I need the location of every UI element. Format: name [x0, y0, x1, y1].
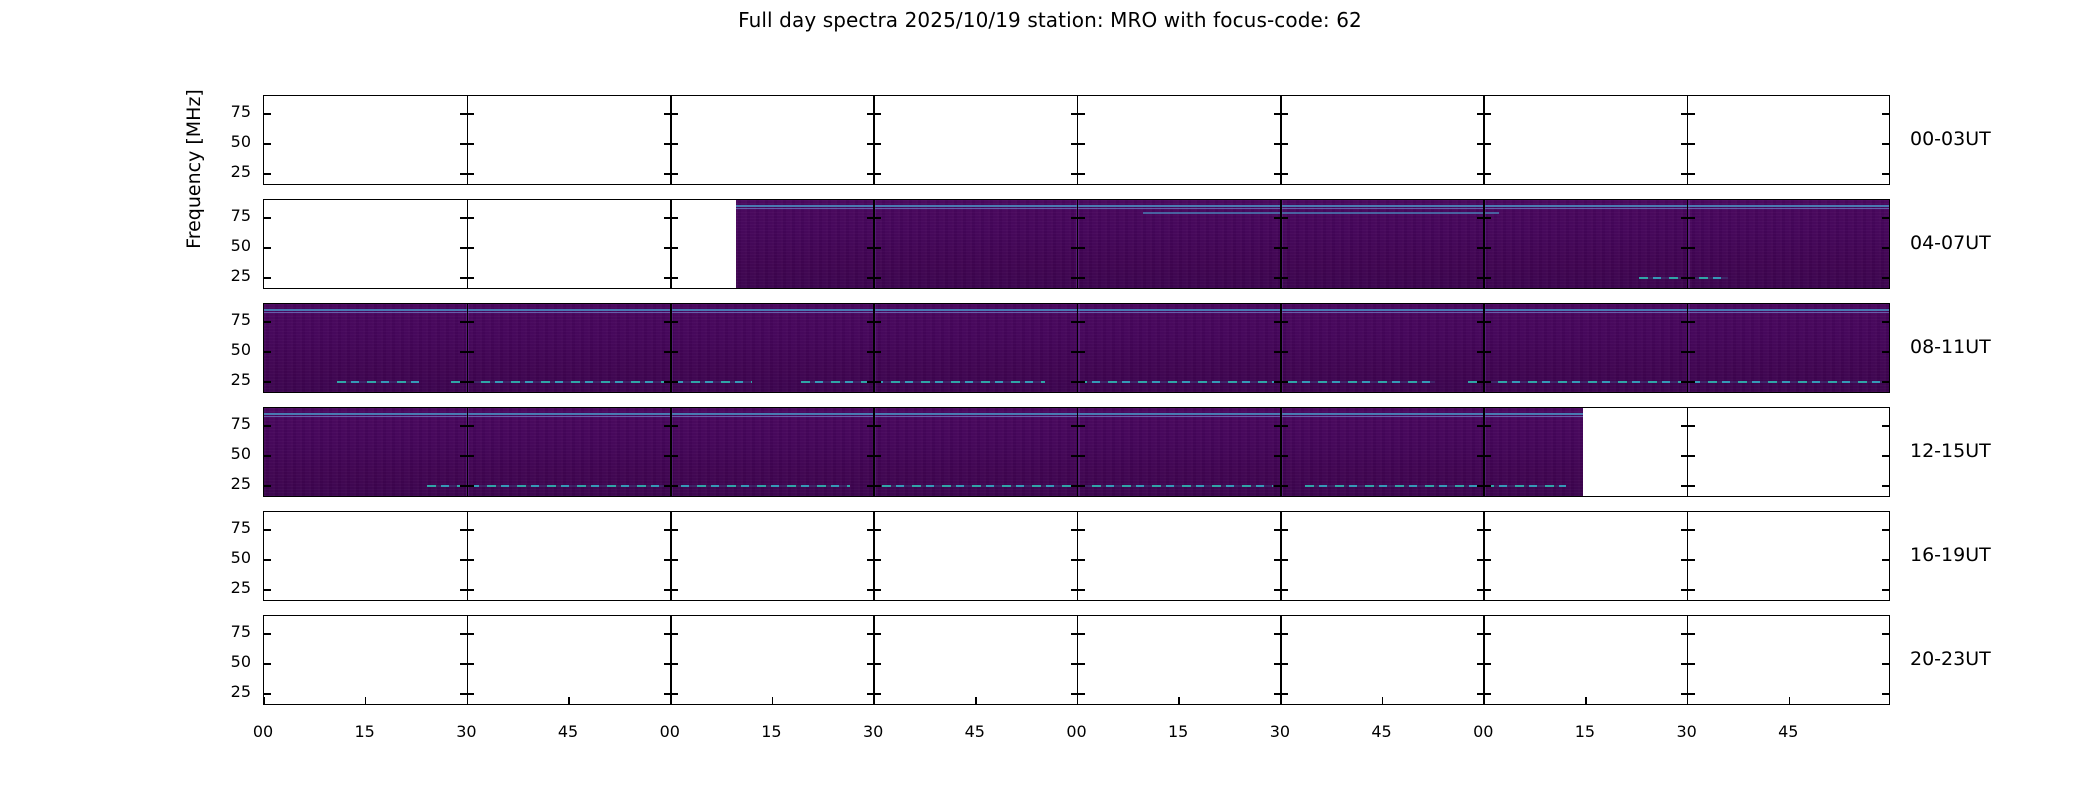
x-axis-tick-labels: 00153045001530450015304500153045 [0, 718, 2100, 748]
y-tick [671, 633, 678, 635]
y-tick [671, 425, 678, 427]
y-tick [671, 455, 678, 457]
y-tick [664, 113, 671, 115]
y-tick [467, 173, 474, 175]
spectrogram-row [263, 95, 1890, 185]
y-tick [1281, 425, 1288, 427]
y-tick [1281, 485, 1288, 487]
spectrogram-row [263, 615, 1890, 705]
y-tick [467, 217, 474, 219]
y-tick [664, 693, 671, 695]
row-plot-area[interactable] [263, 303, 1890, 393]
y-tick [1688, 381, 1695, 383]
y-tick [867, 113, 874, 115]
y-tick [1071, 425, 1078, 427]
y-tick [1681, 247, 1688, 249]
y-tick-label: 75 [201, 102, 251, 121]
y-tick [1274, 693, 1281, 695]
y-tick [671, 559, 678, 561]
y-tick [874, 633, 881, 635]
y-tick [1274, 485, 1281, 487]
y-tick [467, 485, 474, 487]
y-tick [1688, 217, 1695, 219]
y-tick [664, 589, 671, 591]
y-tick [1281, 589, 1288, 591]
y-tick [1274, 559, 1281, 561]
y-tick-label: 25 [201, 162, 251, 181]
y-tick [874, 589, 881, 591]
y-tick [1274, 351, 1281, 353]
y-tick [1281, 277, 1288, 279]
y-tick [460, 381, 467, 383]
hour-separator [873, 96, 875, 184]
y-tick [1071, 693, 1078, 695]
y-tick [867, 217, 874, 219]
y-tick [1071, 321, 1078, 323]
y-tick [1071, 277, 1078, 279]
y-tick [264, 425, 271, 427]
y-tick [1078, 113, 1085, 115]
row-plot-area[interactable] [263, 615, 1890, 705]
y-tick [1882, 425, 1889, 427]
y-tick [1078, 633, 1085, 635]
y-tick [1688, 173, 1695, 175]
x-tick-label: 30 [1250, 722, 1310, 741]
y-tick [1274, 589, 1281, 591]
y-tick [1078, 455, 1085, 457]
y-tick [1274, 455, 1281, 457]
x-tick-label: 30 [1657, 722, 1717, 741]
y-tick [671, 321, 678, 323]
y-tick [1071, 485, 1078, 487]
y-tick [1882, 143, 1889, 145]
y-tick [1681, 113, 1688, 115]
y-tick [671, 529, 678, 531]
y-tick [1484, 633, 1491, 635]
hour-separator [467, 512, 469, 600]
y-tick [1688, 485, 1695, 487]
y-tick [1078, 321, 1085, 323]
y-tick [460, 321, 467, 323]
y-tick [874, 321, 881, 323]
y-tick [1484, 381, 1491, 383]
secondary-frequency-band [1143, 212, 1499, 214]
x-tick [975, 697, 977, 704]
y-tick [1477, 693, 1484, 695]
y-tick-label: 50 [201, 132, 251, 151]
y-tick [1071, 455, 1078, 457]
hour-separator [1687, 304, 1689, 392]
y-tick [467, 425, 474, 427]
y-tick [460, 217, 467, 219]
y-tick [874, 351, 881, 353]
y-tick [467, 321, 474, 323]
y-tick [1078, 277, 1085, 279]
y-tick [1281, 321, 1288, 323]
y-tick [467, 529, 474, 531]
hour-separator [1077, 304, 1079, 392]
y-tick [1477, 589, 1484, 591]
hour-separator [467, 408, 469, 496]
y-tick-label: 50 [201, 340, 251, 359]
x-tick [1178, 697, 1180, 704]
x-tick-label: 15 [1148, 722, 1208, 741]
y-tick [1274, 277, 1281, 279]
hour-separator [1077, 408, 1079, 496]
y-tick [1477, 633, 1484, 635]
y-tick [264, 633, 271, 635]
hour-separator [1077, 512, 1079, 600]
x-tick-label: 45 [1758, 722, 1818, 741]
y-tick [1281, 173, 1288, 175]
y-tick [1688, 455, 1695, 457]
y-tick [867, 173, 874, 175]
y-tick [1071, 633, 1078, 635]
y-tick [1274, 143, 1281, 145]
y-tick [1688, 277, 1695, 279]
y-tick [671, 277, 678, 279]
y-tick [1477, 425, 1484, 427]
y-tick [1688, 693, 1695, 695]
row-plot-area[interactable] [263, 95, 1890, 185]
y-tick [1274, 381, 1281, 383]
y-tick [1681, 485, 1688, 487]
y-tick [460, 633, 467, 635]
y-tick-label: 50 [201, 444, 251, 463]
y-tick [1274, 529, 1281, 531]
rfi-streak [801, 381, 1045, 383]
y-tick [671, 589, 678, 591]
y-tick [264, 351, 271, 353]
y-tick [1681, 351, 1688, 353]
y-tick [1477, 455, 1484, 457]
x-tick [1687, 697, 1689, 704]
y-tick [1078, 693, 1085, 695]
y-tick-label: 75 [201, 206, 251, 225]
y-tick [1078, 173, 1085, 175]
y-tick [671, 143, 678, 145]
y-tick [664, 425, 671, 427]
y-tick [460, 113, 467, 115]
y-tick [1681, 455, 1688, 457]
hour-separator [1483, 616, 1485, 704]
row-label: 16-19UT [1910, 544, 1991, 566]
y-tick [1071, 529, 1078, 531]
y-tick [1484, 321, 1491, 323]
y-tick-label: 50 [201, 652, 251, 671]
y-tick [1882, 173, 1889, 175]
y-tick [264, 485, 271, 487]
hour-separator [670, 200, 672, 288]
spectrogram-data [264, 408, 1583, 496]
y-tick [1681, 425, 1688, 427]
hour-separator [1687, 512, 1689, 600]
spectrogram-row [263, 303, 1890, 393]
x-tick-label: 00 [233, 722, 293, 741]
y-tick [1477, 173, 1484, 175]
y-tick [1882, 113, 1889, 115]
y-tick [460, 589, 467, 591]
y-tick [664, 633, 671, 635]
y-tick [867, 247, 874, 249]
y-tick [664, 351, 671, 353]
y-tick [1681, 321, 1688, 323]
y-tick [1477, 351, 1484, 353]
y-tick [1681, 277, 1688, 279]
y-tick-label: 25 [201, 578, 251, 597]
y-tick [1484, 173, 1491, 175]
y-tick [874, 381, 881, 383]
rfi-streak [337, 381, 418, 383]
hour-separator [670, 616, 672, 704]
y-tick-label: 25 [201, 370, 251, 389]
y-tick [874, 247, 881, 249]
top-frequency-band [736, 205, 1889, 207]
y-tick [1688, 113, 1695, 115]
y-tick [264, 381, 271, 383]
y-tick [867, 693, 874, 695]
y-tick [1071, 589, 1078, 591]
hour-separator [873, 512, 875, 600]
row-label: 08-11UT [1910, 336, 1991, 358]
y-tick [1274, 321, 1281, 323]
y-tick [460, 247, 467, 249]
rfi-streak [1305, 485, 1565, 487]
hour-separator [467, 200, 469, 288]
y-tick [867, 633, 874, 635]
y-tick [867, 455, 874, 457]
y-tick [460, 455, 467, 457]
y-tick [1281, 247, 1288, 249]
y-tick [867, 559, 874, 561]
y-tick-label: 75 [201, 518, 251, 537]
y-tick [1681, 217, 1688, 219]
y-tick [1681, 633, 1688, 635]
y-tick [1484, 559, 1491, 561]
y-tick [1078, 247, 1085, 249]
y-tick-label: 75 [201, 414, 251, 433]
y-tick [1078, 143, 1085, 145]
y-tick [460, 173, 467, 175]
spectrogram-row [263, 407, 1890, 497]
y-tick [1688, 663, 1695, 665]
y-tick [867, 485, 874, 487]
y-tick [1484, 113, 1491, 115]
y-tick [1078, 485, 1085, 487]
y-tick [1688, 559, 1695, 561]
hour-separator [1483, 304, 1485, 392]
row-plot-area[interactable] [263, 407, 1890, 497]
y-tick [1281, 143, 1288, 145]
y-tick [264, 455, 271, 457]
y-tick [1078, 217, 1085, 219]
y-tick [1477, 277, 1484, 279]
y-tick [460, 485, 467, 487]
y-tick [867, 663, 874, 665]
y-tick [664, 321, 671, 323]
y-tick-label: 25 [201, 266, 251, 285]
y-tick [467, 589, 474, 591]
y-tick [1882, 277, 1889, 279]
y-tick [1484, 589, 1491, 591]
hour-separator [1077, 616, 1079, 704]
y-tick [664, 277, 671, 279]
x-tick [1789, 697, 1791, 704]
y-tick [867, 425, 874, 427]
x-tick [568, 697, 570, 704]
y-tick [1882, 455, 1889, 457]
y-tick [671, 381, 678, 383]
hour-separator [1077, 96, 1079, 184]
y-tick [1882, 693, 1889, 695]
x-tick [263, 697, 265, 704]
x-tick-label: 30 [436, 722, 496, 741]
y-tick [1882, 663, 1889, 665]
y-tick [467, 381, 474, 383]
hour-separator [1687, 96, 1689, 184]
y-tick [1071, 217, 1078, 219]
x-tick [365, 697, 367, 704]
y-tick [1281, 455, 1288, 457]
top-frequency-band [264, 413, 1583, 415]
hour-separator [1077, 200, 1079, 288]
y-tick [264, 663, 271, 665]
y-tick [1071, 559, 1078, 561]
spectrogram-row [263, 511, 1890, 601]
y-tick [460, 693, 467, 695]
y-tick [467, 633, 474, 635]
y-tick [1681, 693, 1688, 695]
hour-separator [873, 304, 875, 392]
y-tick [664, 381, 671, 383]
hour-separator [1280, 200, 1282, 288]
y-tick [1477, 247, 1484, 249]
y-tick [671, 173, 678, 175]
row-plot-area[interactable] [263, 511, 1890, 601]
y-tick [1477, 381, 1484, 383]
y-tick [1477, 559, 1484, 561]
y-tick [867, 277, 874, 279]
y-tick [1681, 173, 1688, 175]
y-tick [1071, 173, 1078, 175]
y-tick [1071, 113, 1078, 115]
y-tick [664, 143, 671, 145]
x-tick [467, 697, 469, 704]
y-tick [1688, 589, 1695, 591]
hour-separator [1280, 616, 1282, 704]
y-tick [467, 277, 474, 279]
y-tick [1484, 217, 1491, 219]
y-tick [264, 217, 271, 219]
y-tick [874, 455, 881, 457]
y-tick [671, 113, 678, 115]
rfi-streak [1078, 381, 1436, 383]
x-tick [1280, 697, 1282, 704]
y-tick [1484, 529, 1491, 531]
spectrogram-noise [264, 408, 1583, 496]
y-tick [874, 485, 881, 487]
y-tick [874, 173, 881, 175]
x-tick [873, 697, 875, 704]
y-tick [874, 559, 881, 561]
y-tick [671, 351, 678, 353]
y-tick [867, 321, 874, 323]
hour-separator [1280, 96, 1282, 184]
y-tick [1281, 529, 1288, 531]
y-tick [1078, 529, 1085, 531]
y-tick [664, 247, 671, 249]
x-tick [772, 697, 774, 704]
y-tick [1882, 559, 1889, 561]
y-tick [1484, 351, 1491, 353]
y-tick [1681, 663, 1688, 665]
y-tick [1484, 425, 1491, 427]
hour-separator [467, 616, 469, 704]
y-tick [1477, 485, 1484, 487]
y-tick [264, 529, 271, 531]
rfi-streak [451, 381, 752, 383]
y-tick [467, 113, 474, 115]
y-tick [1071, 143, 1078, 145]
row-plot-area[interactable] [263, 199, 1890, 289]
y-tick [1078, 559, 1085, 561]
y-tick [460, 425, 467, 427]
hour-separator [1687, 200, 1689, 288]
rfi-streak [1468, 381, 1889, 383]
y-tick [1071, 247, 1078, 249]
y-tick [664, 529, 671, 531]
y-tick [1688, 247, 1695, 249]
x-tick-label: 00 [1047, 722, 1107, 741]
y-tick [467, 663, 474, 665]
hour-separator [1687, 408, 1689, 496]
x-tick [1483, 697, 1485, 704]
y-tick-label: 75 [201, 622, 251, 641]
row-label: 20-23UT [1910, 648, 1991, 670]
y-tick [1484, 143, 1491, 145]
y-tick [1281, 663, 1288, 665]
y-tick [264, 247, 271, 249]
y-tick-label: 50 [201, 548, 251, 567]
y-tick-label: 25 [201, 474, 251, 493]
y-tick [1681, 589, 1688, 591]
y-tick [1281, 559, 1288, 561]
x-tick [1585, 697, 1587, 704]
y-tick [467, 455, 474, 457]
y-tick [664, 485, 671, 487]
hour-separator [1483, 200, 1485, 288]
hour-separator [467, 304, 469, 392]
y-tick [671, 217, 678, 219]
y-tick [1281, 351, 1288, 353]
spectrogram-row [263, 199, 1890, 289]
y-tick [1882, 529, 1889, 531]
y-tick [460, 277, 467, 279]
y-tick [874, 693, 881, 695]
y-tick [1281, 381, 1288, 383]
y-tick [1477, 663, 1484, 665]
hour-separator [1280, 304, 1282, 392]
y-tick [1484, 277, 1491, 279]
x-tick-label: 45 [945, 722, 1005, 741]
y-tick [264, 277, 271, 279]
y-tick [264, 173, 271, 175]
y-tick [460, 529, 467, 531]
y-tick [867, 589, 874, 591]
y-tick [1274, 217, 1281, 219]
y-tick [1078, 381, 1085, 383]
y-tick [467, 143, 474, 145]
